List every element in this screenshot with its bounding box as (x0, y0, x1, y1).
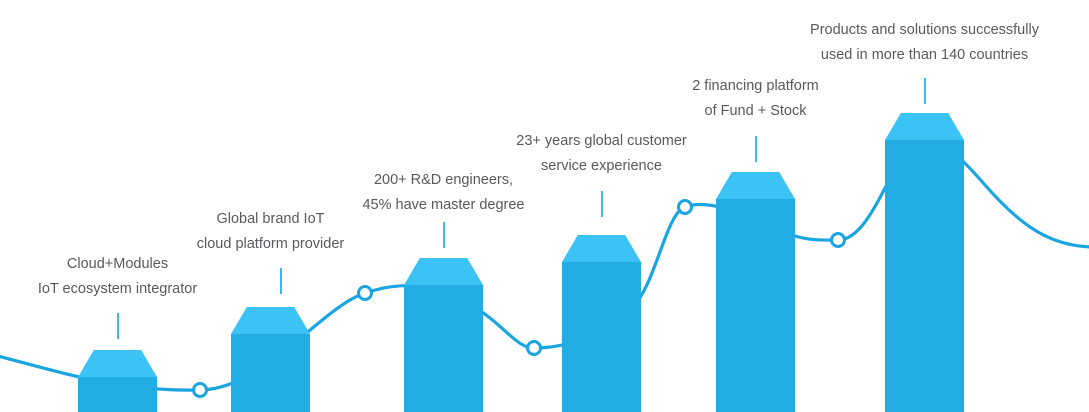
bar-5-label-line-2: of Fund + Stock (670, 99, 841, 124)
trend-marker (832, 234, 845, 247)
bar-5-top-face (716, 172, 795, 199)
bar-5-front-face (716, 199, 795, 412)
bar-5-label: 2 financing platform of Fund + Stock (670, 74, 841, 124)
bar-6-top-face (885, 113, 964, 140)
bar-4-tick (601, 191, 603, 217)
bar-6-label: Products and solutions successfully used… (788, 18, 1061, 68)
bar-6 (885, 113, 964, 412)
bar-6-tick (924, 78, 926, 104)
bar-2-label-line-2: cloud platform provider (150, 232, 391, 257)
bar-5 (716, 172, 795, 412)
bar-2-top-face (231, 307, 310, 334)
bar-4-label: 23+ years global customer service experi… (480, 129, 723, 179)
bar-2-front-face (231, 334, 310, 412)
bar-4-front-face (562, 262, 641, 412)
bar-3 (404, 258, 483, 412)
bar-5-label-line-1: 2 financing platform (670, 74, 841, 99)
bar-4 (562, 235, 641, 412)
bar-1-front-face (78, 377, 157, 412)
bar-2 (231, 307, 310, 412)
bar-3-top-face (404, 258, 483, 285)
bar-4-label-line-2: service experience (480, 154, 723, 179)
bar-3-front-face (404, 285, 483, 412)
bar-6-label-line-2: used in more than 140 countries (788, 43, 1061, 68)
bar-2-tick (280, 268, 282, 294)
bar-6-front-face (885, 140, 964, 412)
bar-1-tick (117, 313, 119, 339)
bar-3-label-line-2: 45% have master degree (330, 193, 557, 218)
trend-marker (359, 287, 372, 300)
bar-1-label-line-2: IoT ecosystem integrator (0, 277, 256, 302)
bar-5-tick (755, 136, 757, 162)
bar-1-top-face (78, 350, 157, 377)
bar-4-label-line-1: 23+ years global customer (480, 129, 723, 154)
bar-4-top-face (562, 235, 641, 262)
bar-3-tick (443, 222, 445, 248)
bar-1-label: Cloud+Modules IoT ecosystem integrator (0, 252, 256, 302)
trend-marker (194, 384, 207, 397)
trend-marker (528, 342, 541, 355)
bar-1 (78, 350, 157, 412)
trend-marker (679, 201, 692, 214)
infographic-canvas: Cloud+Modules IoT ecosystem integrator G… (0, 0, 1089, 412)
bar-6-label-line-1: Products and solutions successfully (788, 18, 1061, 43)
